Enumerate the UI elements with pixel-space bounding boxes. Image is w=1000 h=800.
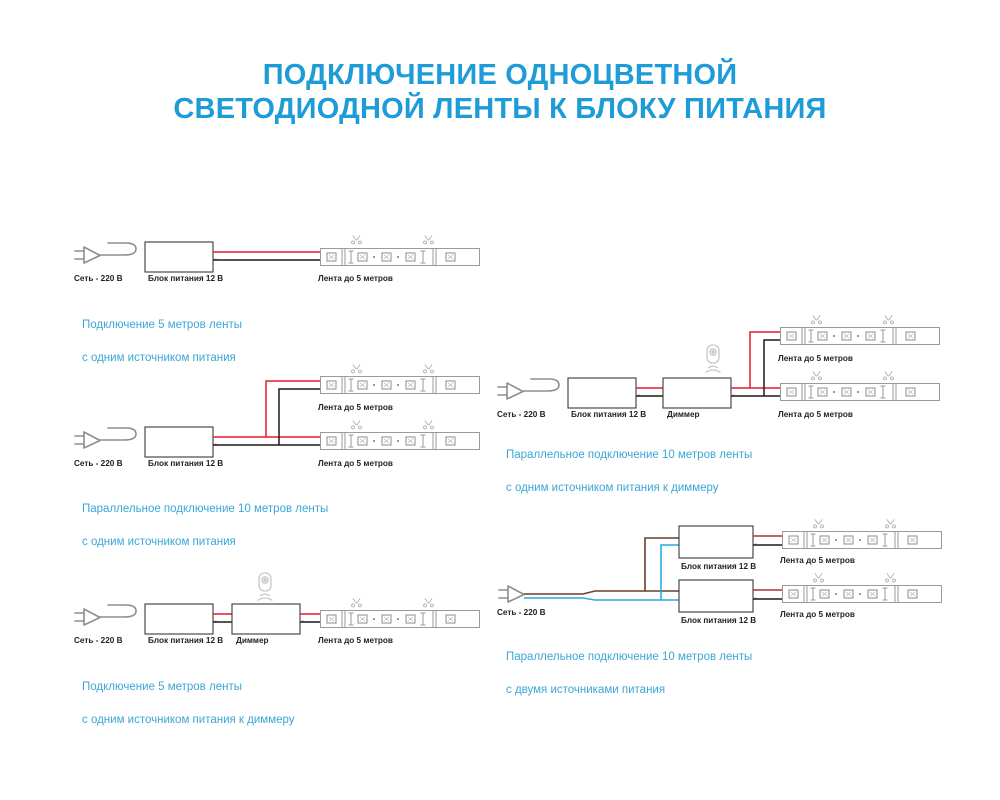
diagram-2-svg — [70, 365, 490, 470]
label-psu: Блок питания 12 В — [571, 410, 646, 419]
scissors-cut-mark-icon — [814, 573, 824, 582]
label-mains: Сеть - 220 В — [497, 608, 546, 617]
scissors-cut-mark-icon — [886, 573, 896, 582]
led-strip-2 — [321, 433, 480, 450]
label-strip-lower: Лента до 5 метров — [780, 610, 855, 619]
psu-block — [145, 242, 213, 272]
diagram-4: Лента до 5 метров Сеть - 220 В Блок пита… — [495, 318, 925, 418]
dimmer-block — [232, 604, 300, 634]
diagram-3: Сеть - 220 В Блок питания 12 В Диммер Ле… — [70, 572, 490, 634]
label-mains: Сеть - 220 В — [74, 459, 123, 468]
scissors-cut-mark-icon — [352, 598, 362, 607]
psu-block — [145, 427, 213, 457]
scissors-cut-mark-icon — [352, 235, 362, 244]
scissors-cut-mark-icon — [884, 315, 894, 324]
scissors-cut-mark-icon — [812, 371, 822, 380]
scissors-cut-mark-icon — [812, 315, 822, 324]
led-strip-1 — [321, 249, 480, 266]
label-psu: Блок питания 12 В — [148, 636, 223, 645]
label-strip-upper: Лента до 5 метров — [778, 354, 853, 363]
caption-2-line1: Параллельное подключение 10 метров ленты — [82, 501, 328, 518]
page-title-line2: СВЕТОДИОДНОЙ ЛЕНТЫ К БЛОКУ ПИТАНИЯ — [0, 92, 1000, 126]
psu-upper-terminals — [753, 536, 757, 544]
wire-live-brown-upper — [524, 538, 680, 594]
label-psu: Блок питания 12 В — [148, 459, 223, 468]
caption-diagram-5: Параллельное подключение 10 метров ленты… — [506, 632, 752, 715]
power-plug-icon — [75, 243, 136, 263]
power-plug-icon — [499, 586, 524, 602]
psu-terminals — [213, 437, 217, 444]
led-strip-2 — [783, 586, 942, 603]
caption-diagram-2: Параллельное подключение 10 метров ленты… — [82, 484, 328, 567]
caption-diagram-3: Подключение 5 метров ленты с одним источ… — [82, 662, 295, 745]
scissors-cut-mark-icon — [886, 519, 896, 528]
caption-4-line1: Параллельное подключение 10 метров ленты — [506, 447, 752, 464]
led-strip-1 — [781, 328, 940, 345]
label-psu-upper: Блок питания 12 В — [681, 562, 756, 571]
psu-terminals — [636, 388, 640, 395]
led-strip-1 — [783, 532, 942, 549]
scissors-cut-mark-icon — [884, 371, 894, 380]
diagram-5: Блок питания 12 В Лента до 5 метров Сеть… — [495, 518, 925, 626]
led-strip-2 — [781, 384, 940, 401]
caption-1-line2: с одним источником питания — [82, 350, 242, 367]
psu-terminals — [213, 614, 217, 621]
scissors-cut-mark-icon — [424, 420, 434, 429]
page-title-line1: ПОДКЛЮЧЕНИЕ ОДНОЦВЕТНОЙ — [263, 59, 738, 91]
power-plug-icon — [75, 428, 136, 448]
caption-5-line1: Параллельное подключение 10 метров ленты — [506, 649, 752, 666]
label-strip-upper: Лента до 5 метров — [318, 403, 393, 412]
diagram-1: Сеть - 220 В Блок питания 12 В Лента до … — [70, 232, 490, 284]
caption-3-line1: Подключение 5 метров ленты — [82, 679, 295, 696]
label-mains: Сеть - 220 В — [74, 636, 123, 645]
psu-terminals — [213, 252, 217, 259]
psu-block — [568, 378, 636, 408]
scissors-cut-mark-icon — [352, 364, 362, 373]
power-plug-icon — [75, 605, 136, 625]
remote-control-icon — [258, 573, 273, 601]
diagram-page: ПОДКЛЮЧЕНИЕ ОДНОЦВЕТНОЙ СВЕТОДИОДНОЙ ЛЕН… — [0, 0, 1000, 800]
label-dimmer: Диммер — [667, 410, 700, 419]
psu-block — [145, 604, 213, 634]
label-dimmer: Диммер — [236, 636, 269, 645]
label-strip-lower: Лента до 5 метров — [778, 410, 853, 419]
scissors-cut-mark-icon — [424, 364, 434, 373]
diagram-1-svg — [70, 232, 490, 284]
remote-control-icon — [706, 345, 721, 373]
scissors-cut-mark-icon — [352, 420, 362, 429]
caption-1-line1: Подключение 5 метров ленты — [82, 317, 242, 334]
label-strip-lower: Лента до 5 метров — [318, 459, 393, 468]
psu-lower-terminals — [753, 590, 757, 598]
label-psu-lower: Блок питания 12 В — [681, 616, 756, 625]
diagram-2: Лента до 5 метров Сеть - 220 В Блок пита… — [70, 365, 490, 470]
label-mains: Сеть - 220 В — [497, 410, 546, 419]
power-plug-icon — [498, 379, 559, 399]
scissors-cut-mark-icon — [424, 598, 434, 607]
psu-block-upper — [679, 526, 753, 558]
scissors-cut-mark-icon — [424, 235, 434, 244]
label-psu: Блок питания 12 В — [148, 274, 223, 283]
dimmer-terminals — [300, 614, 304, 621]
caption-5-line2: с двумя источниками питания — [506, 682, 752, 699]
psu-block-lower — [679, 580, 753, 612]
caption-2-line2: с одним источником питания — [82, 534, 328, 551]
dimmer-terminals — [731, 388, 735, 395]
diagram-5-svg — [495, 518, 925, 626]
caption-diagram-4: Параллельное подключение 10 метров ленты… — [506, 430, 752, 513]
scissors-cut-mark-icon — [814, 519, 824, 528]
caption-4-line2: с одним источником питания к диммеру — [506, 480, 752, 497]
diagram-3-svg — [70, 572, 490, 634]
caption-3-line2: с одним источником питания к диммеру — [82, 712, 295, 729]
diagram-4-svg — [495, 318, 925, 418]
dimmer-block — [663, 378, 731, 408]
label-strip: Лента до 5 метров — [318, 274, 393, 283]
label-strip-upper: Лента до 5 метров — [780, 556, 855, 565]
label-mains: Сеть - 220 В — [74, 274, 123, 283]
label-strip: Лента до 5 метров — [318, 636, 393, 645]
page-title: ПОДКЛЮЧЕНИЕ ОДНОЦВЕТНОЙ СВЕТОДИОДНОЙ ЛЕН… — [0, 58, 1000, 126]
led-strip-1 — [321, 611, 480, 628]
led-strip-1 — [321, 377, 480, 394]
